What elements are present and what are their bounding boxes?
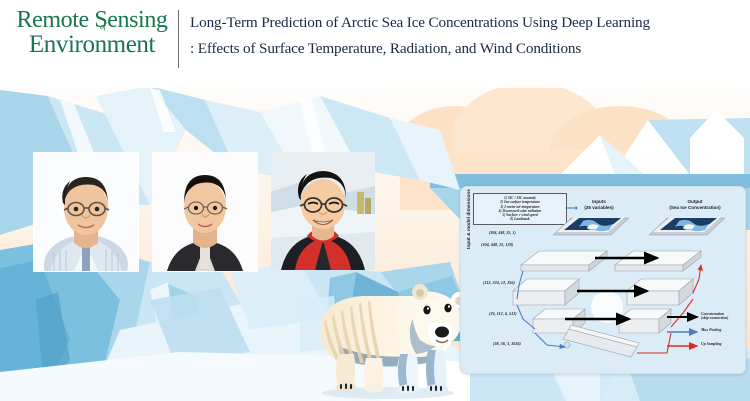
title-line-1: Long-Term Prediction of Arctic Sea Ice C…: [190, 12, 742, 33]
page-title: Long-Term Prediction of Arctic Sea Ice C…: [190, 12, 742, 59]
header-divider: [178, 10, 179, 68]
author-photo-2: [152, 152, 258, 272]
model-architecture-panel: 1) SIC / SIC anomaly 2) Sea surface temp…: [460, 186, 746, 374]
header: Remote Sensing of Environment Long-Term …: [0, 0, 750, 84]
input-image-slab: [553, 217, 629, 235]
graphical-abstract: Remote Sensing of Environment Long-Term …: [0, 0, 750, 401]
journal-logo: Remote Sensing of Environment: [12, 8, 172, 57]
journal-logo-line2-text: Environment: [29, 31, 155, 58]
journal-logo-line1: Remote Sensing: [12, 8, 172, 32]
output-image-slab: [649, 217, 725, 235]
journal-logo-of: of: [100, 23, 105, 31]
author-photo-1: [33, 152, 139, 272]
journal-logo-line2: of Environment: [12, 32, 172, 57]
author-photo-3: [271, 152, 375, 270]
title-line-2: : Effects of Surface Temperature, Radiat…: [190, 38, 742, 59]
polar-bear-illustration: [296, 262, 476, 401]
unet-architecture-graphic: [461, 187, 745, 373]
